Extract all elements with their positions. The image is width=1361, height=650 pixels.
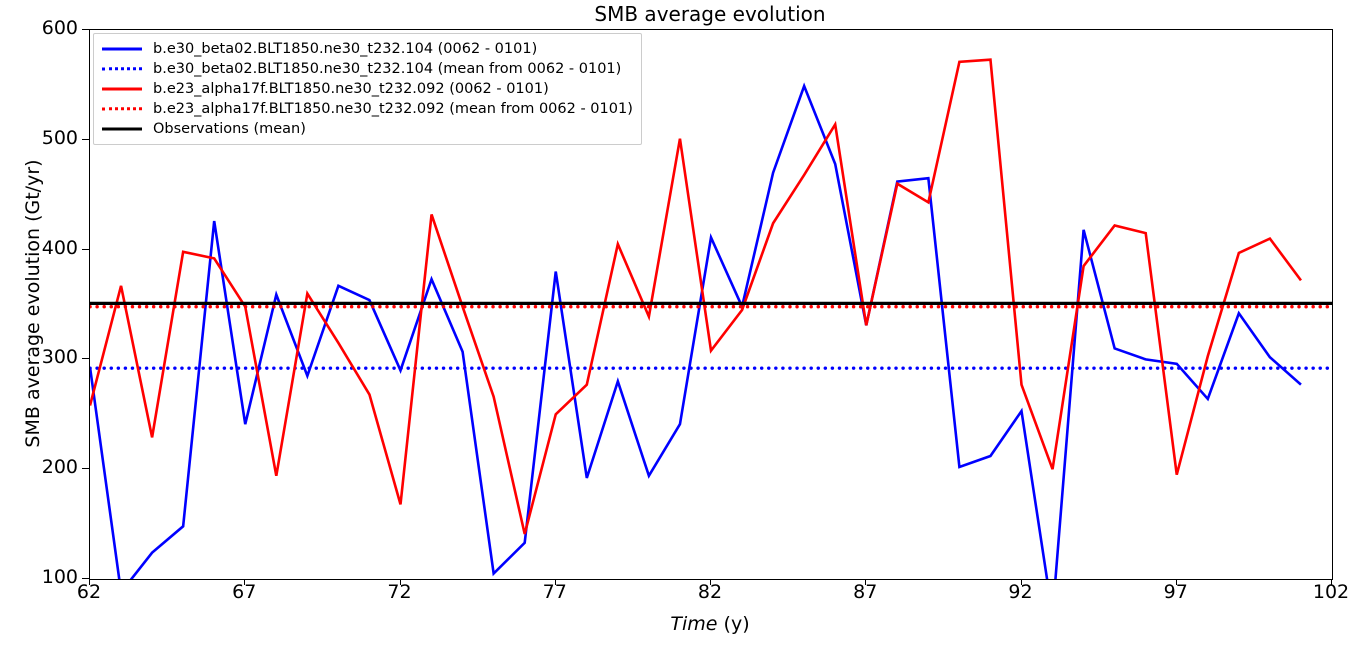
- y-axis-tick-label: 300: [8, 348, 78, 367]
- x-axis-label: Time (y): [89, 613, 1331, 635]
- legend-item[interactable]: b.e23_alpha17f.BLT1850.ne30_t232.092 (me…: [100, 99, 633, 119]
- legend-line-sample: [102, 48, 142, 51]
- legend-item-label: b.e30_beta02.BLT1850.ne30_t232.104 (0062…: [153, 41, 537, 57]
- x-axis-tick-label: 87: [830, 583, 900, 602]
- legend-line-sample: [102, 67, 142, 70]
- y-axis-tick-mark: [82, 578, 89, 579]
- legend-item-label: b.e23_alpha17f.BLT1850.ne30_t232.092 (00…: [153, 81, 549, 97]
- x-axis-tick-label: 62: [54, 583, 124, 602]
- legend-item[interactable]: b.e23_alpha17f.BLT1850.ne30_t232.092 (00…: [100, 79, 633, 99]
- legend: b.e30_beta02.BLT1850.ne30_t232.104 (0062…: [93, 33, 642, 145]
- x-axis-label-variable: Time: [670, 613, 717, 635]
- legend-item-label: b.e30_beta02.BLT1850.ne30_t232.104 (mean…: [153, 61, 621, 77]
- x-axis-tick-label: 102: [1296, 583, 1361, 602]
- y-axis-tick-mark: [82, 139, 89, 140]
- y-axis-tick-label: 600: [8, 19, 78, 38]
- x-axis-tick-label: 67: [209, 583, 279, 602]
- legend-line-sample: [102, 107, 142, 110]
- series-line-0: [90, 86, 1301, 579]
- legend-line-sample: [102, 128, 142, 131]
- legend-line-sample: [102, 88, 142, 91]
- legend-item[interactable]: b.e30_beta02.BLT1850.ne30_t232.104 (0062…: [100, 39, 633, 59]
- y-axis-tick-mark: [82, 29, 89, 30]
- y-axis-tick-label: 400: [8, 239, 78, 258]
- legend-swatch-solid-icon: [100, 82, 144, 96]
- y-axis-tick-mark: [82, 249, 89, 250]
- page-title: SMB average evolution: [89, 2, 1331, 26]
- y-axis-tick-mark: [82, 358, 89, 359]
- x-axis-tick-label: 72: [365, 583, 435, 602]
- legend-item-label: b.e23_alpha17f.BLT1850.ne30_t232.092 (me…: [153, 101, 633, 117]
- y-axis-label: SMB average evolution (Gt/yr): [22, 29, 48, 578]
- x-axis-tick-label: 77: [520, 583, 590, 602]
- figure: SMB average evolution SMB average evolut…: [0, 0, 1361, 650]
- x-axis-tick-label: 82: [675, 583, 745, 602]
- x-axis-tick-label: 92: [986, 583, 1056, 602]
- legend-item[interactable]: b.e30_beta02.BLT1850.ne30_t232.104 (mean…: [100, 59, 633, 79]
- legend-swatch-dotted-icon: [100, 62, 144, 76]
- legend-item[interactable]: Observations (mean): [100, 119, 633, 139]
- y-axis-tick-mark: [82, 468, 89, 469]
- legend-swatch-dotted-icon: [100, 102, 144, 116]
- legend-swatch-solid-icon: [100, 42, 144, 56]
- legend-item-label: Observations (mean): [153, 121, 306, 137]
- x-axis-tick-label: 97: [1141, 583, 1211, 602]
- x-axis-label-unit: (y): [724, 613, 750, 635]
- legend-swatch-solid-icon: [100, 122, 144, 136]
- y-axis-tick-label: 200: [8, 458, 78, 477]
- y-axis-tick-label: 500: [8, 129, 78, 148]
